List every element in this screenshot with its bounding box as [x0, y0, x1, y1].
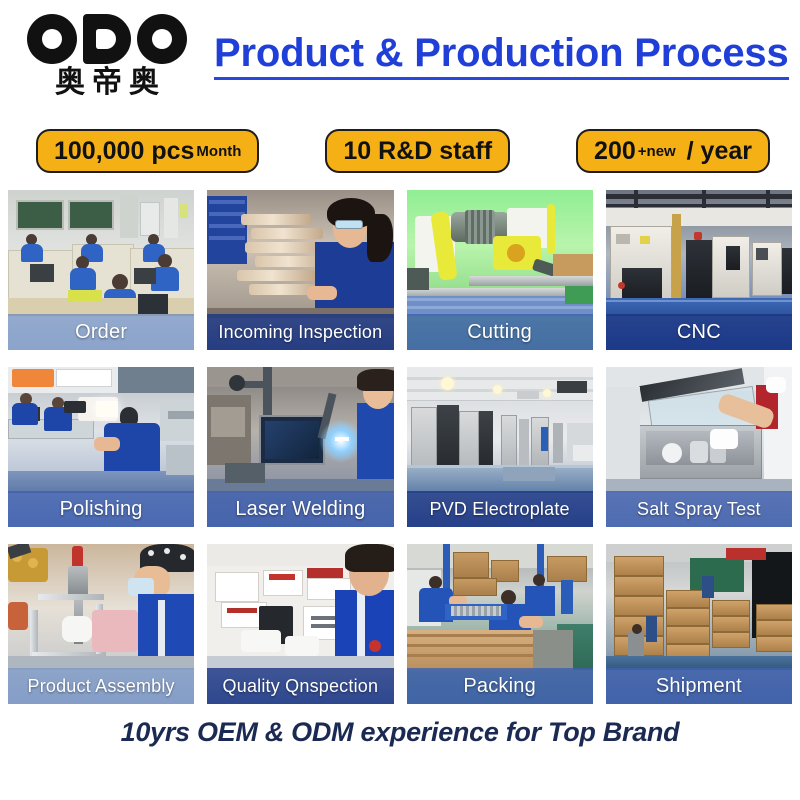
process-cell-packing[interactable]: Packing	[407, 544, 593, 704]
process-cell-cnc[interactable]: CNC	[606, 190, 792, 350]
process-caption: Polishing	[8, 491, 194, 527]
badge-sup-text: +new	[638, 143, 676, 160]
process-cell-quality-inspection[interactable]: Quality Qnspection	[207, 544, 393, 704]
process-cell-pvd-electroplate[interactable]: PVD Electroplate	[407, 367, 593, 527]
badge-main-text: 100,000 pcs	[54, 137, 194, 166]
process-cell-cutting[interactable]: Cutting	[407, 190, 593, 350]
process-caption: Product Assembly	[8, 668, 194, 704]
badge-sup-text: Month	[196, 143, 241, 160]
process-caption: Laser Welding	[207, 491, 393, 527]
footer-tagline: 10yrs OEM & ODM experience for Top Brand	[121, 717, 680, 748]
logo-letter-o-right	[137, 14, 187, 64]
process-cell-order[interactable]: Order	[8, 190, 194, 350]
process-caption: Packing	[407, 668, 593, 704]
logo-letter-d	[83, 14, 131, 64]
process-cell-laser-welding[interactable]: Laser Welding	[207, 367, 393, 527]
process-cell-polishing[interactable]: Polishing	[8, 367, 194, 527]
process-caption: Incoming Inspection	[207, 314, 393, 350]
process-cell-salt-spray-test[interactable]: Salt Spray Test	[606, 367, 792, 527]
logo-wordmark	[27, 14, 187, 64]
process-caption: Shipment	[606, 668, 792, 704]
process-caption: PVD Electroplate	[407, 491, 593, 527]
badge-main-text: 10 R&D staff	[343, 137, 492, 166]
page-footer: 10yrs OEM & ODM experience for Top Brand	[0, 704, 800, 760]
company-logo: 奥帝奥	[14, 14, 200, 99]
page-title: Product & Production Process	[214, 32, 789, 74]
badge-monthly-capacity: 100,000 pcs Month	[36, 129, 259, 173]
logo-letter-o-left	[27, 14, 77, 64]
title-underline	[214, 77, 789, 80]
process-caption: Quality Qnspection	[207, 668, 393, 704]
capability-badges: 100,000 pcs Month 10 R&D staff 200 +new …	[0, 112, 800, 190]
logo-chinese-name: 奥帝奥	[48, 66, 166, 99]
process-cell-shipment[interactable]: Shipment	[606, 544, 792, 704]
title-block: Product & Production Process	[200, 32, 795, 80]
process-grid: Order Incoming Inspection	[0, 190, 800, 704]
process-caption: CNC	[606, 314, 792, 350]
process-caption: Salt Spray Test	[606, 491, 792, 527]
badge-rd-staff: 10 R&D staff	[325, 129, 510, 173]
process-caption: Cutting	[407, 314, 593, 350]
process-cell-product-assembly[interactable]: Product Assembly	[8, 544, 194, 704]
process-cell-incoming-inspection[interactable]: Incoming Inspection	[207, 190, 393, 350]
badge-new-products: 200 +new / year	[576, 129, 770, 173]
badge-main-text: 200	[594, 137, 636, 166]
badge-tail-text: / year	[687, 137, 752, 166]
process-caption: Order	[8, 314, 194, 350]
page-header: 奥帝奥 Product & Production Process	[0, 0, 800, 112]
